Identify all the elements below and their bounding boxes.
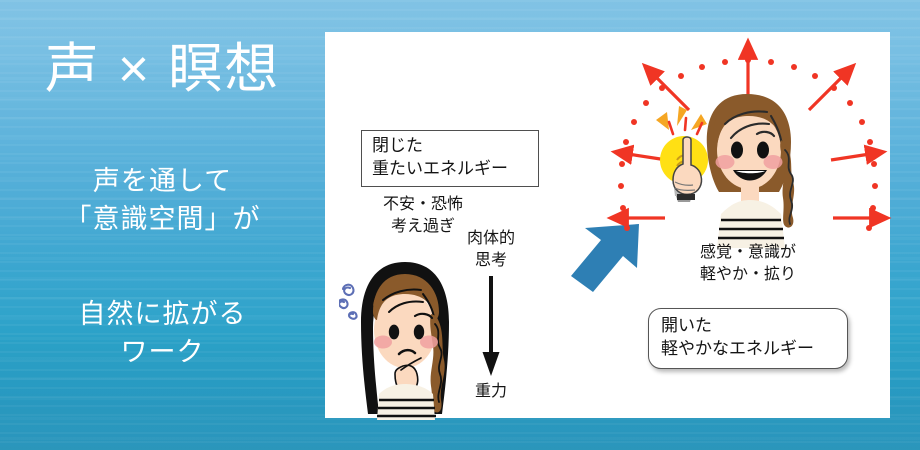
subtitle-primary: 声を通して 「意識空間」が <box>0 162 325 239</box>
subtitle-secondary: 自然に拡がる ワーク <box>0 295 325 372</box>
worried-woman-illustration <box>339 254 471 420</box>
happy-woman-illustration <box>655 90 831 248</box>
radiating-arrow-right <box>831 152 883 160</box>
left-text-column: 声 × 瞑想 声を通して 「意識空間」が 自然に拡がる ワーク <box>0 0 325 450</box>
sense-expansion-text: 感覚・意識が 軽やか・拡り <box>673 242 823 286</box>
arrow-down-icon <box>479 276 503 376</box>
spark-lines-icon <box>669 118 702 134</box>
closed-energy-label-box: 閉じた 重たいエネルギー <box>361 130 539 187</box>
diagram-panel: 閉じた 重たいエネルギー 不安・恐怖 考え過ぎ 肉体的 思考 重力 <box>325 32 890 418</box>
page-title: 声 × 瞑想 <box>0 38 325 100</box>
slide-canvas: 声 × 瞑想 声を通して 「意識空間」が 自然に拡がる ワーク 閉じた 重たいエ… <box>0 0 920 450</box>
pointing-hand-icon <box>673 137 702 200</box>
stress-swirl-icon <box>339 285 357 319</box>
open-energy-label-box: 開いた 軽やかなエネルギー <box>648 308 848 369</box>
